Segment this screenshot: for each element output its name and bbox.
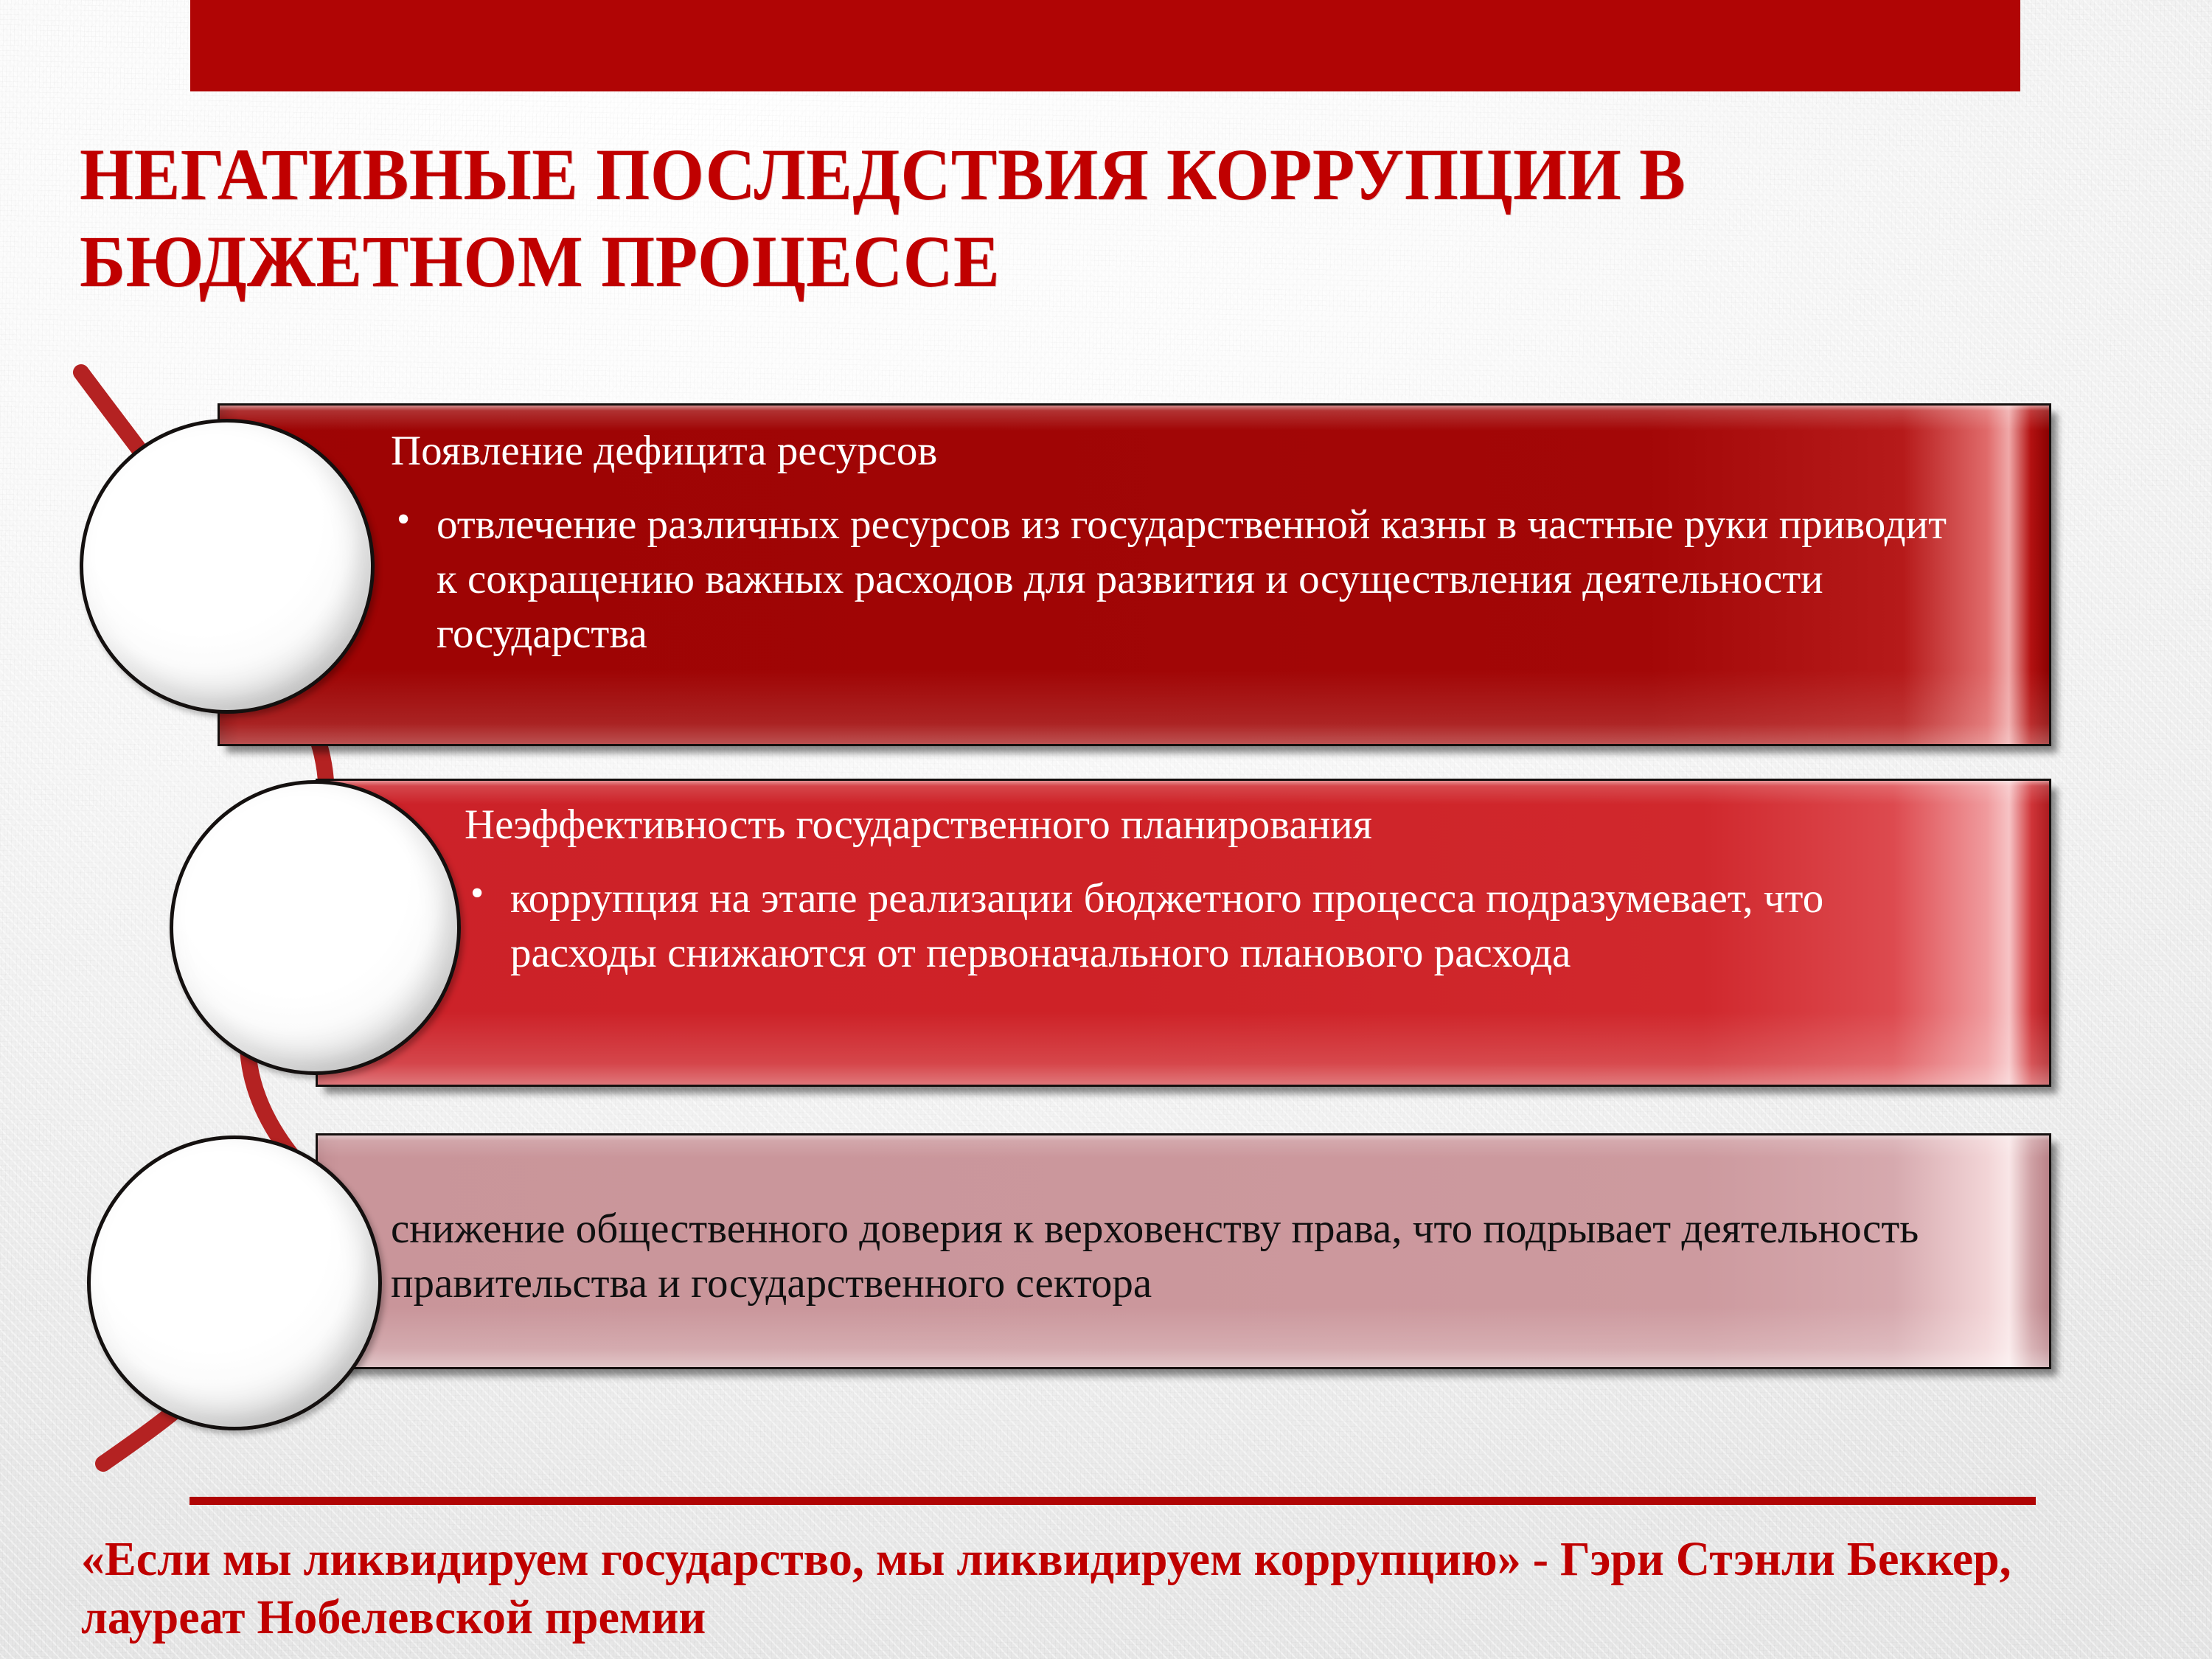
list-item: коррупция на этапе реализации бюджетного… xyxy=(465,872,1969,981)
top-accent-banner xyxy=(190,0,2020,91)
slide-canvas: НЕГАТИВНЫЕ ПОСЛЕДСТВИЯ КОРРУПЦИИ В БЮДЖЕ… xyxy=(0,0,2212,1659)
list-item: отвлечение различных ресурсов из государ… xyxy=(391,498,1961,661)
page-title: НЕГАТИВНЫЕ ПОСЛЕДСТВИЯ КОРРУПЦИИ В БЮДЖЕ… xyxy=(80,131,1812,305)
step-circle-2[interactable] xyxy=(170,780,461,1075)
consequence-text-3: снижение общественного доверия к верхове… xyxy=(391,1202,1961,1311)
footer-divider xyxy=(189,1497,2036,1505)
page-title-line-1: НЕГАТИВНЫЕ ПОСЛЕДСТВИЯ КОРРУПЦИИ В xyxy=(80,133,1686,215)
page-title-line-2: БЮДЖЕТНОМ ПРОЦЕССЕ xyxy=(80,220,1000,302)
footer-quote: «Если мы ликвидируем государство, мы лик… xyxy=(81,1530,2098,1646)
consequence-text-1: Появление дефицита ресурсов отвлечение р… xyxy=(391,424,1961,661)
consequence-bullet-list-1: отвлечение различных ресурсов из государ… xyxy=(391,498,1961,661)
consequence-text-2: Неэффективность государственного планиро… xyxy=(465,798,1969,981)
consequence-body-3: снижение общественного доверия к верхове… xyxy=(391,1206,1919,1307)
consequence-bullet-list-2: коррупция на этапе реализации бюджетного… xyxy=(465,872,1969,981)
step-circle-3[interactable] xyxy=(87,1135,382,1430)
step-circle-1[interactable] xyxy=(80,419,375,714)
consequence-heading-1: Появление дефицита ресурсов xyxy=(391,424,1961,479)
consequence-heading-2: Неэффективность государственного планиро… xyxy=(465,798,1969,852)
